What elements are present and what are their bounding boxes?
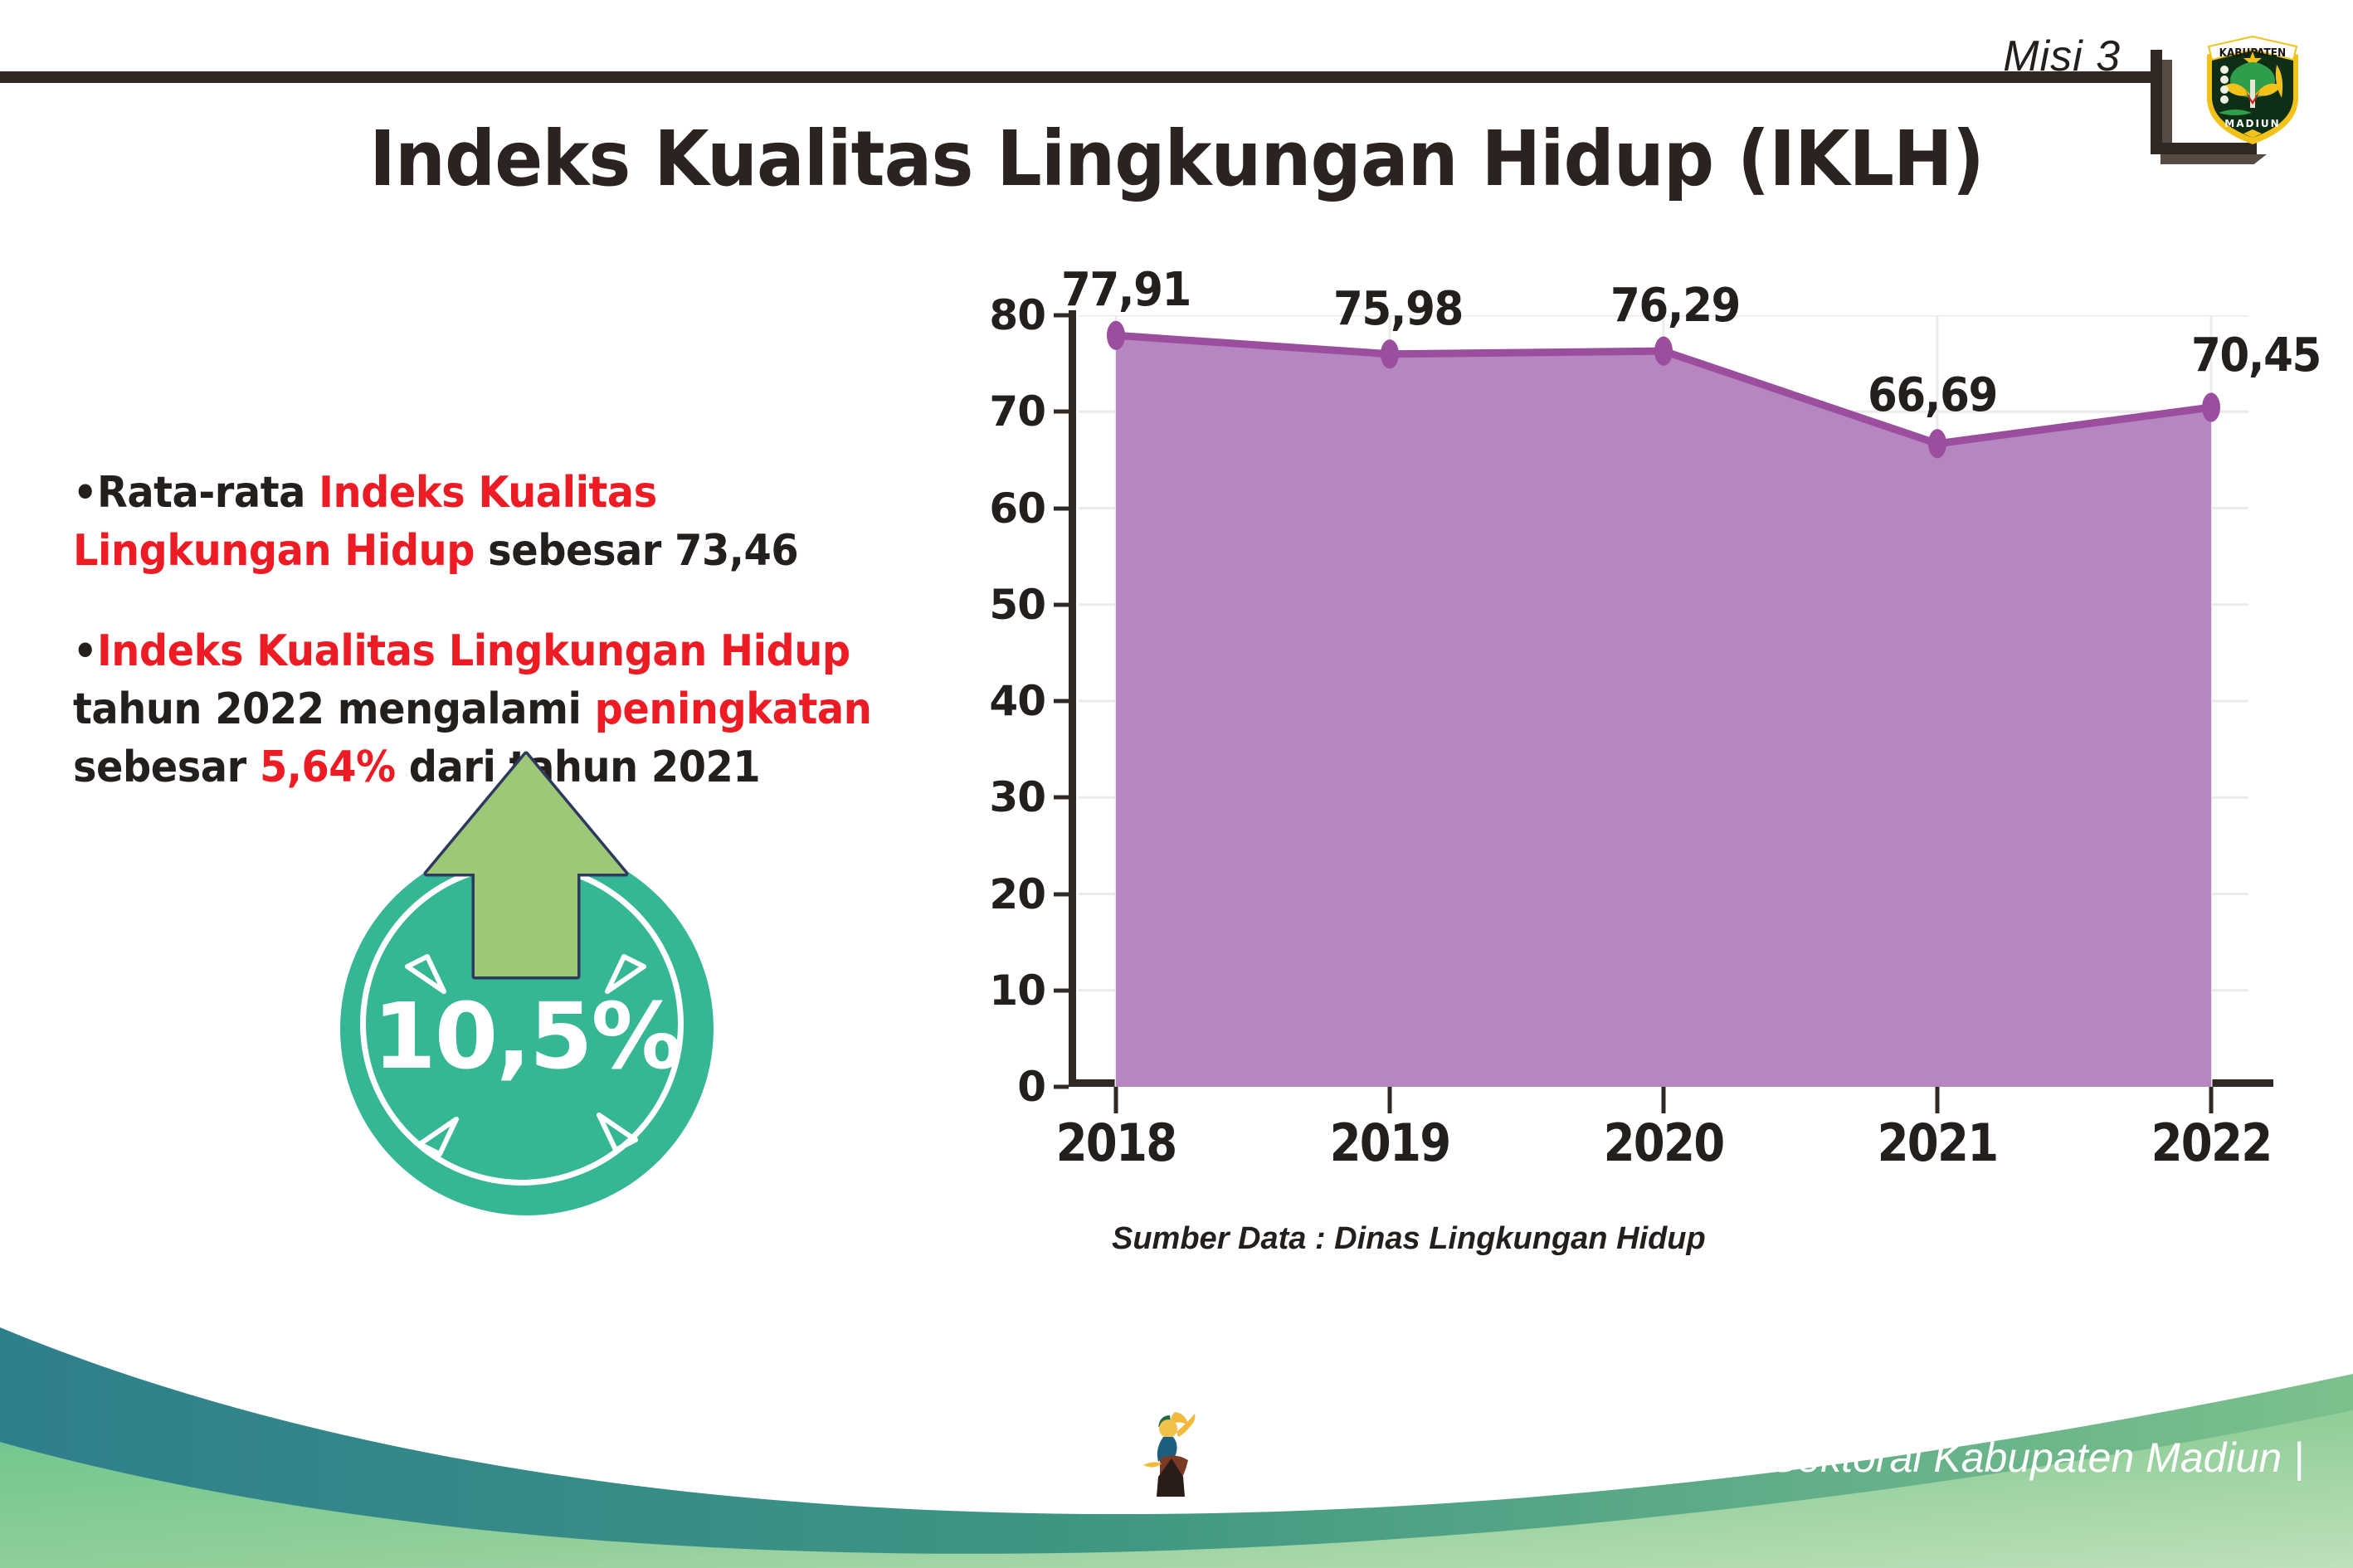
bullet-marker: •	[73, 469, 97, 517]
data-point-marker	[2202, 392, 2220, 421]
y-axis-tick-label: 20	[989, 870, 1045, 918]
iklh-area-chart: 01020304050607080 201877,91201975,982020…	[979, 299, 2273, 1178]
chart-series-svg	[1079, 315, 2248, 1087]
data-point-label: 77,91	[1061, 263, 1191, 317]
badge-arrow-mark-bottom-left	[415, 1108, 466, 1159]
plain-text: tahun 2022 mengalami	[73, 684, 595, 734]
y-axis-tick	[1054, 410, 1069, 414]
data-point-marker	[1654, 337, 1673, 366]
source-note: Sumber Data : Dinas Lingkungan Hidup	[1112, 1221, 1706, 1257]
plain-text: sebesar	[73, 743, 260, 792]
footer-caption: Media Infografis Data Statistik Sektoral…	[1207, 1434, 2304, 1482]
plain-text: sebesar 73,46	[475, 526, 798, 576]
data-point-label: 66,69	[1868, 368, 1997, 422]
y-axis-tick	[1054, 602, 1069, 606]
data-point-label: 76,29	[1610, 279, 1740, 333]
x-axis-tick-label: 2019	[1330, 1113, 1450, 1173]
y-axis-tick-label: 10	[989, 967, 1045, 1015]
y-axis-tick	[1054, 892, 1069, 896]
x-axis-tick	[2209, 1087, 2214, 1113]
badge-arrow-mark-bottom-right	[589, 1103, 641, 1155]
y-axis-tick-label: 60	[989, 485, 1045, 533]
highlighted-text: peningkatan	[595, 684, 872, 734]
x-axis-tick-label: 2020	[1604, 1113, 1724, 1173]
media-infografis-logo-icon	[1138, 1404, 1210, 1503]
y-axis-tick-label: 70	[989, 387, 1045, 436]
increase-badge: 10,5%	[324, 751, 755, 1215]
y-axis-tick-label: 40	[989, 677, 1045, 725]
bullet-1-text: Rata-rata Indeks Kualitas Lingkungan Hid…	[73, 468, 798, 576]
data-point-marker	[1381, 339, 1399, 368]
data-point-label: 75,98	[1333, 282, 1463, 336]
up-arrow-icon	[423, 751, 631, 991]
infographic-slide: Misi 3 KABUPATEN MADIUN Indeks Kualitas …	[0, 0, 2353, 1568]
data-point-marker	[1928, 429, 1946, 458]
page-title: Indeks Kualitas Lingkungan Hidup (IKLH)	[82, 114, 2270, 203]
plain-text: Rata-rata	[97, 468, 319, 518]
footer-wave: Media Infografis Data Statistik Sektoral…	[0, 1294, 2353, 1568]
y-axis-tick-label: 30	[989, 773, 1045, 821]
x-axis-tick-label: 2021	[1878, 1113, 1998, 1173]
list-item: •Rata-rata Indeks Kualitas Lingkungan Hi…	[73, 465, 905, 580]
x-axis-tick-label: 2018	[1056, 1113, 1176, 1173]
y-axis-tick	[1054, 1085, 1069, 1089]
x-axis-tick-label: 2022	[2151, 1113, 2272, 1173]
highlighted-text: Indeks Kualitas Lingkungan Hidup	[97, 626, 850, 676]
bullet-marker: •	[73, 627, 97, 675]
data-point-label: 70,45	[2191, 329, 2321, 382]
y-axis-tick	[1054, 506, 1069, 510]
y-axis-tick	[1054, 796, 1069, 800]
y-axis-tick-label: 80	[989, 291, 1045, 339]
y-axis-tick-label: 50	[989, 581, 1045, 629]
x-axis-tick	[1114, 1087, 1118, 1113]
misi-label: Misi 3	[2003, 32, 2121, 81]
header-rule	[0, 71, 2162, 83]
y-axis-tick	[1054, 699, 1069, 704]
area-fill	[1116, 335, 2211, 1087]
data-point-marker	[1107, 321, 1125, 350]
badge-percentage: 10,5%	[340, 983, 714, 1089]
y-axis-tick	[1054, 988, 1069, 992]
x-axis-tick	[1662, 1087, 1666, 1113]
x-axis-tick	[1388, 1087, 1392, 1113]
y-axis-tick-label: 0	[1017, 1063, 1045, 1111]
y-axis-line	[1069, 310, 1076, 1087]
y-axis-labels: 01020304050607080	[979, 315, 1069, 1087]
x-axis-tick	[1936, 1087, 1940, 1113]
plot-area	[1079, 315, 2248, 1087]
